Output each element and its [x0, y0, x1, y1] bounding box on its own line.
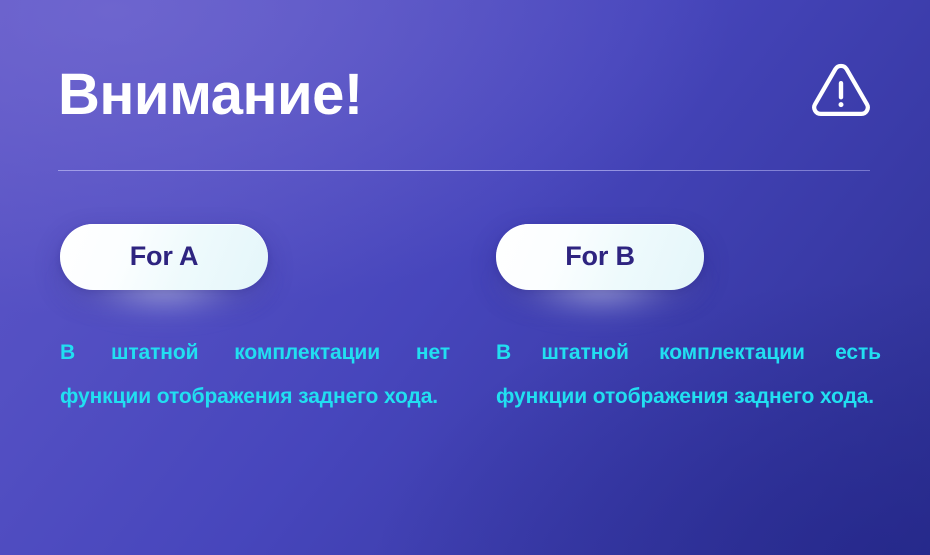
page-title: Внимание!	[58, 58, 363, 132]
pill-button-for-a-wrapper: For A	[60, 224, 268, 290]
pill-button-for-b-label: For B	[565, 243, 635, 270]
description-for-b: В штатной комплектации есть функции отоб…	[496, 331, 881, 419]
pill-button-for-a-label: For A	[130, 243, 199, 270]
column-for-a: For A В штатной комплектации нет функции…	[60, 224, 460, 290]
pill-button-for-b[interactable]: For B	[496, 224, 704, 290]
pill-button-for-a[interactable]: For A	[60, 224, 268, 290]
divider	[58, 170, 870, 171]
column-for-b: For B В штатной комплектации есть функци…	[496, 224, 896, 290]
slide-content: Внимание! For A В штатной комплектации н…	[0, 0, 930, 555]
warning-triangle-icon	[810, 63, 872, 121]
description-for-a: В штатной комплектации нет функции отобр…	[60, 331, 450, 419]
pill-button-for-b-wrapper: For B	[496, 224, 704, 290]
